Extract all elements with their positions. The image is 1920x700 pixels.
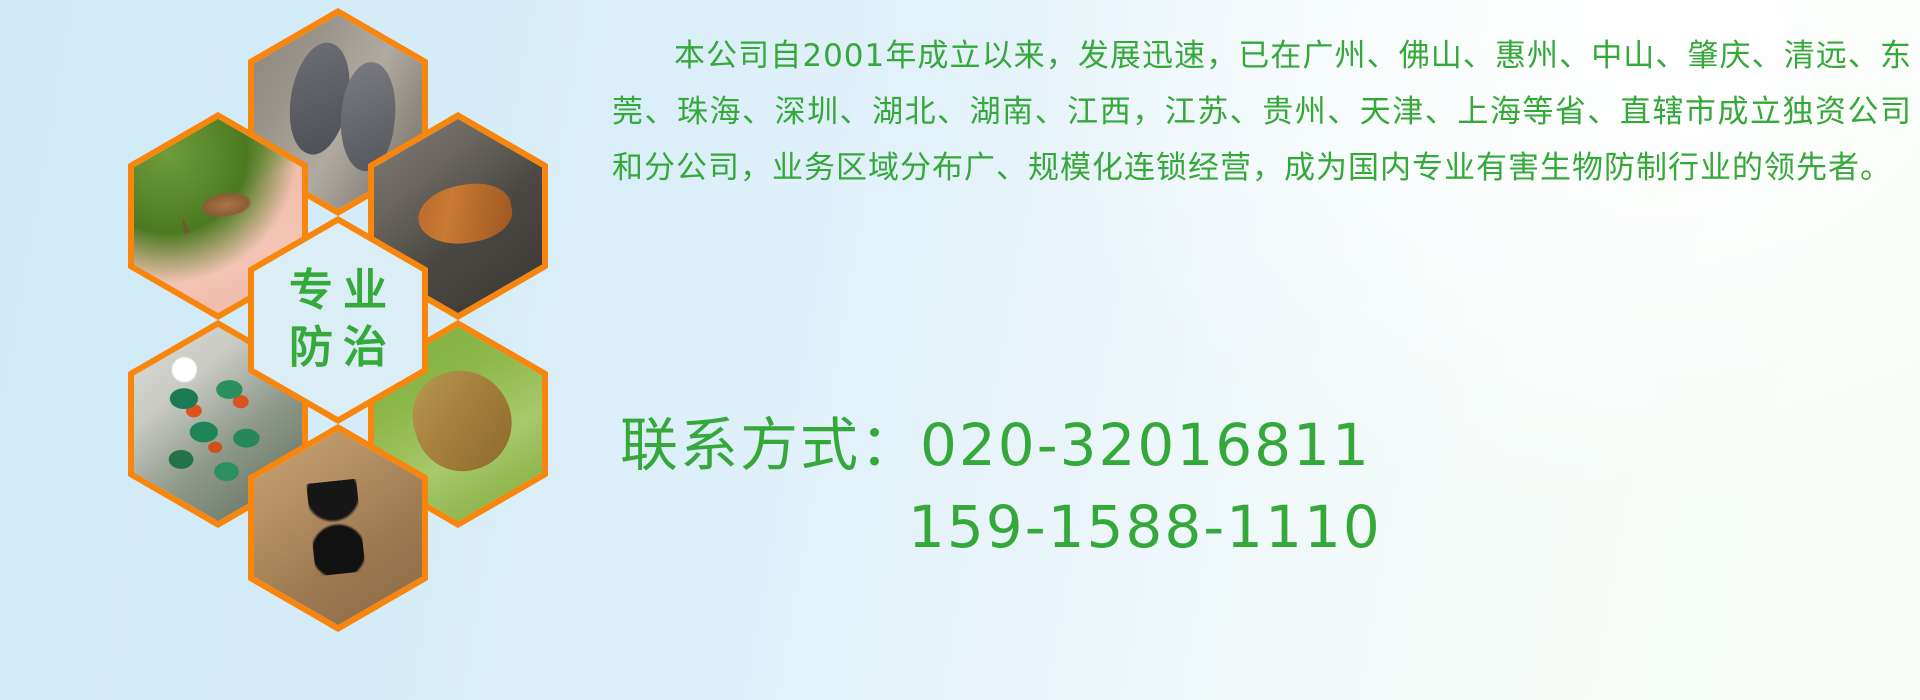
contact-line-primary[interactable]: 联系方式：020-32016811: [620, 404, 1910, 486]
contact-block: 联系方式：020-32016811 159-1588-1110: [620, 404, 1910, 568]
ant-photo: [254, 431, 422, 625]
hex-inner: 专业 防治: [254, 223, 422, 417]
promo-banner: 专业 防治 本公司自2001年成立以来，发展迅速，已在广州、佛山、惠州、中山、肇…: [0, 0, 1920, 700]
contact-line-secondary[interactable]: 159-1588-1110: [620, 486, 1910, 568]
hex-inner: [254, 431, 422, 625]
slogan-line-2: 防治: [279, 323, 397, 374]
honeycomb-photo-collage: 专业 防治: [88, 0, 588, 580]
slogan-text: 专业 防治: [254, 223, 422, 417]
slogan-line-1: 专业: [279, 266, 397, 317]
company-intro-block: 本公司自2001年成立以来，发展迅速，已在广州、佛山、惠州、中山、肇庆、清远、东…: [612, 28, 1912, 196]
intro-paragraph: 本公司自2001年成立以来，发展迅速，已在广州、佛山、惠州、中山、肇庆、清远、东…: [612, 28, 1912, 196]
